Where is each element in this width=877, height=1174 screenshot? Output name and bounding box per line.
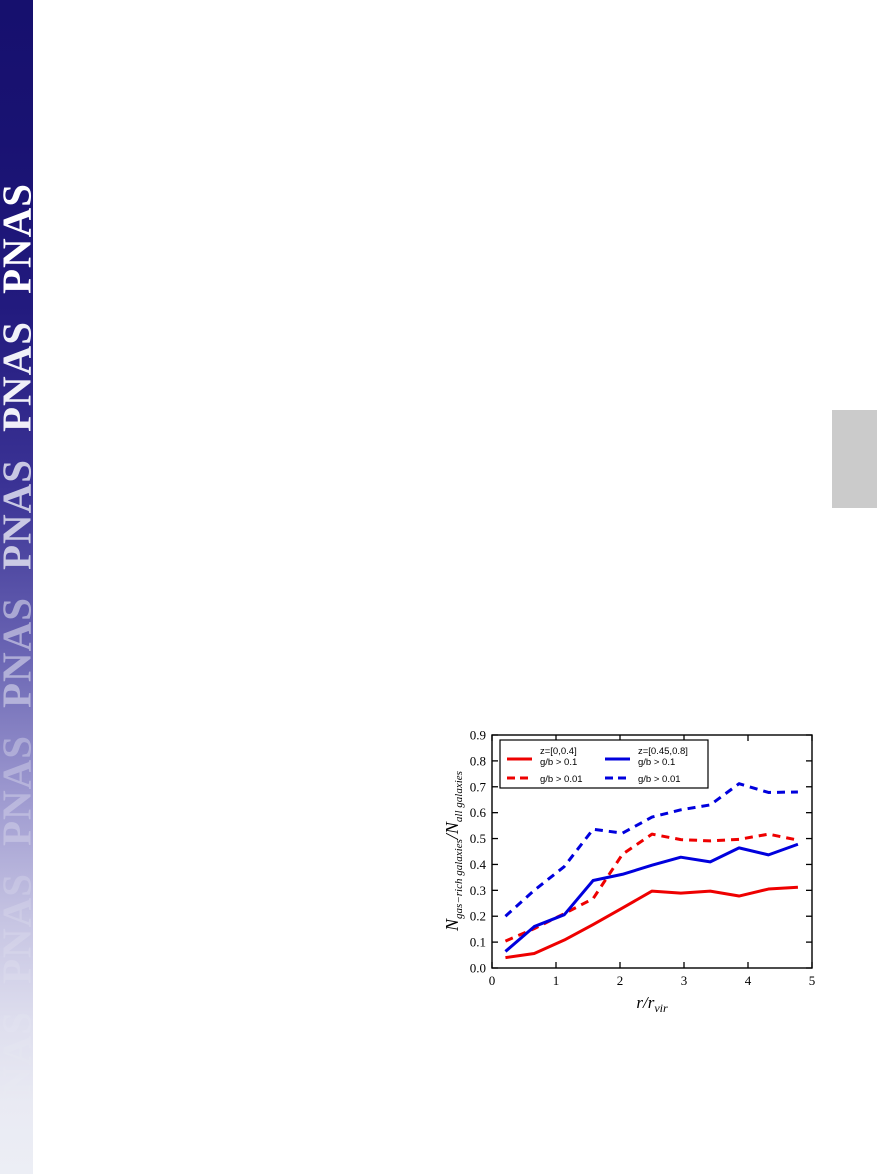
figure-panel: 0123450.00.10.20.30.40.50.60.70.80.9 r/r… bbox=[440, 718, 840, 1018]
legend-label-blue-solid: g/b > 0.1 bbox=[638, 757, 675, 768]
pnas-watermark-text: PNAS bbox=[0, 735, 33, 846]
y-tick-label: 0.5 bbox=[470, 831, 486, 846]
y-tick-label: 0.7 bbox=[470, 779, 487, 794]
x-axis-label: r/rvir bbox=[636, 993, 668, 1015]
pnas-watermark-strip: PNAS PNAS PNAS PNAS PNAS PNAS PNAS bbox=[0, 0, 33, 1174]
x-tick-label: 5 bbox=[809, 973, 816, 988]
legend-label-red-group: z=[0,0.4] bbox=[540, 746, 577, 757]
y-tick-label: 0.9 bbox=[470, 728, 486, 743]
legend-label-blue-group: z=[0.45,0.8] bbox=[638, 746, 688, 757]
chart-legend: z=[0,0.4] g/b > 0.1 g/b > 0.01 z=[0.45,0… bbox=[500, 740, 708, 788]
pnas-watermark-text: PNAS bbox=[0, 321, 33, 432]
pnas-watermark-text: PNAS bbox=[0, 1011, 33, 1122]
pnas-watermark-text: PNAS bbox=[0, 459, 33, 570]
svg-text:r/rvir: r/rvir bbox=[636, 993, 668, 1015]
y-tick-label: 0.0 bbox=[470, 961, 486, 976]
pnas-watermark-text: PNAS bbox=[0, 873, 33, 984]
x-tick-label: 3 bbox=[681, 973, 688, 988]
x-tick-label: 4 bbox=[745, 973, 752, 988]
y-tick-label: 0.6 bbox=[470, 805, 487, 820]
svg-text:Ngas−rich galaxies/Nall galaxi: Ngas−rich galaxies/Nall galaxies bbox=[442, 771, 465, 932]
pnas-watermark-text: PNAS bbox=[0, 183, 33, 294]
x-tick-label: 0 bbox=[489, 973, 496, 988]
x-tick-label: 1 bbox=[553, 973, 560, 988]
legend-label-red-dashed: g/b > 0.01 bbox=[540, 774, 583, 785]
y-tick-label: 0.1 bbox=[470, 935, 486, 950]
y-axis-label: Ngas−rich galaxies/Nall galaxies bbox=[442, 771, 465, 932]
x-tick-label: 2 bbox=[617, 973, 624, 988]
pnas-watermark-text: PNAS bbox=[0, 597, 33, 708]
legend-label-red-solid: g/b > 0.1 bbox=[540, 757, 577, 768]
y-tick-label: 0.8 bbox=[470, 753, 486, 768]
line-chart: 0123450.00.10.20.30.40.50.60.70.80.9 r/r… bbox=[440, 718, 840, 1018]
grey-margin-block bbox=[832, 410, 877, 508]
y-tick-label: 0.2 bbox=[470, 909, 486, 924]
y-tick-label: 0.3 bbox=[470, 883, 486, 898]
legend-label-blue-dashed: g/b > 0.01 bbox=[638, 774, 681, 785]
y-tick-label: 0.4 bbox=[470, 857, 487, 872]
